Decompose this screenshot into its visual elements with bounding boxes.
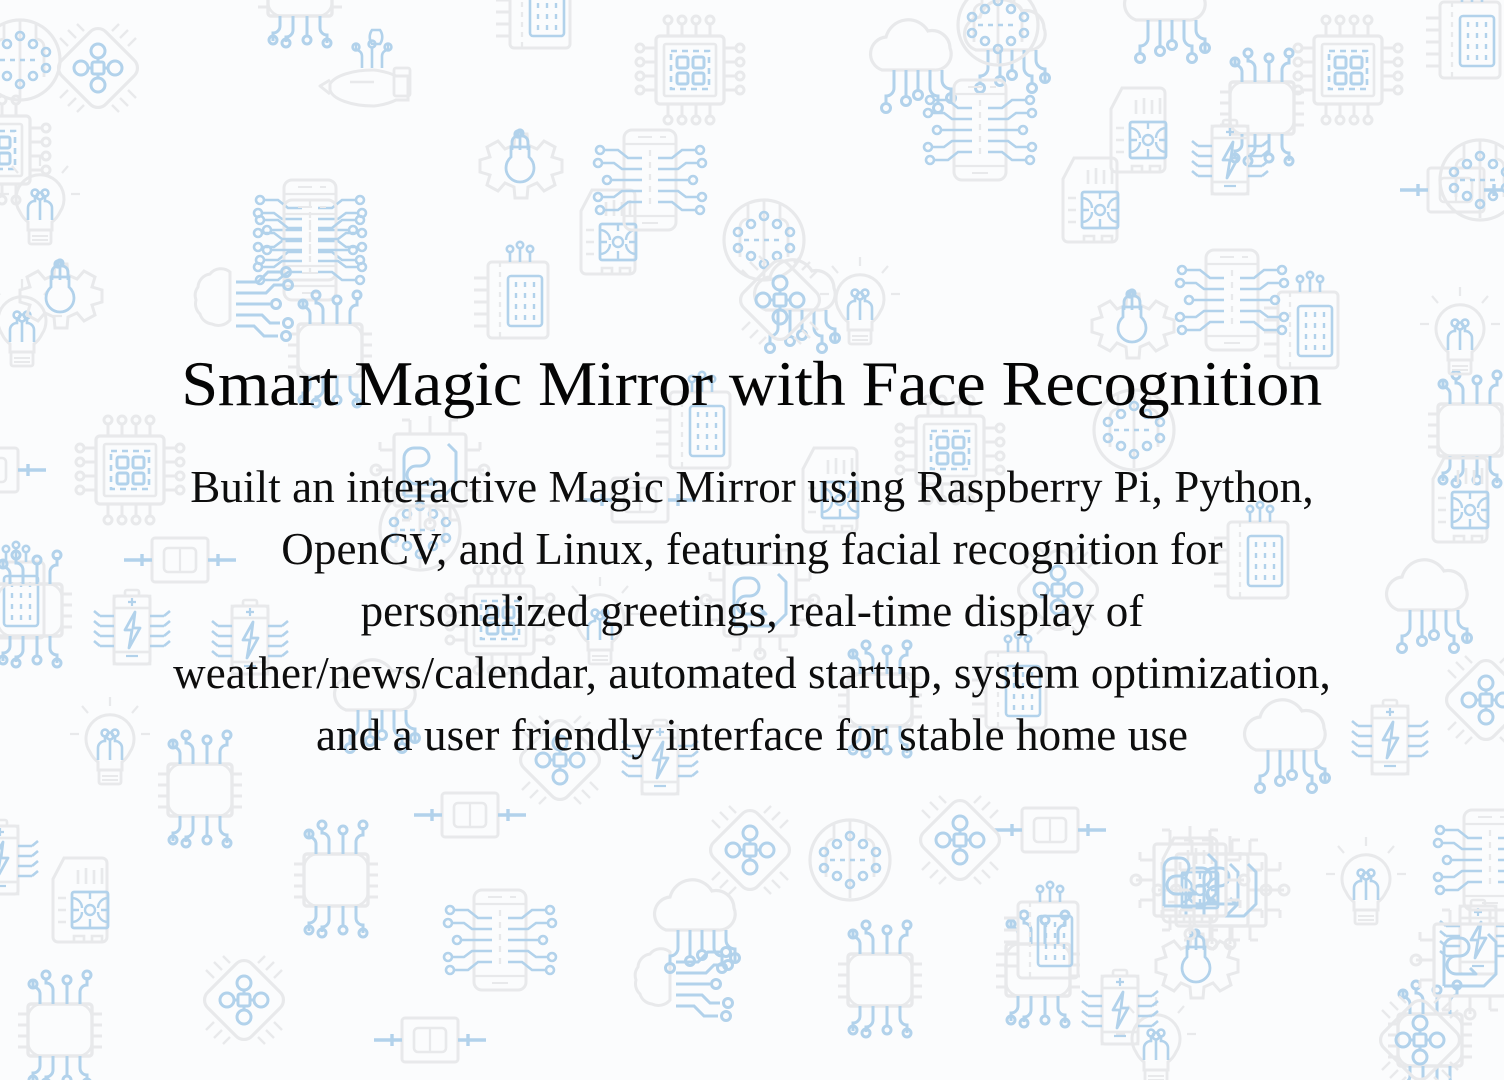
page-title: Smart Magic Mirror with Face Recognition — [182, 352, 1322, 416]
slide-canvas: Smart Magic Mirror with Face Recognition… — [0, 0, 1504, 1080]
slide-content: Smart Magic Mirror with Face Recognition… — [0, 0, 1504, 1080]
project-description: Built an interactive Magic Mirror using … — [172, 456, 1332, 766]
